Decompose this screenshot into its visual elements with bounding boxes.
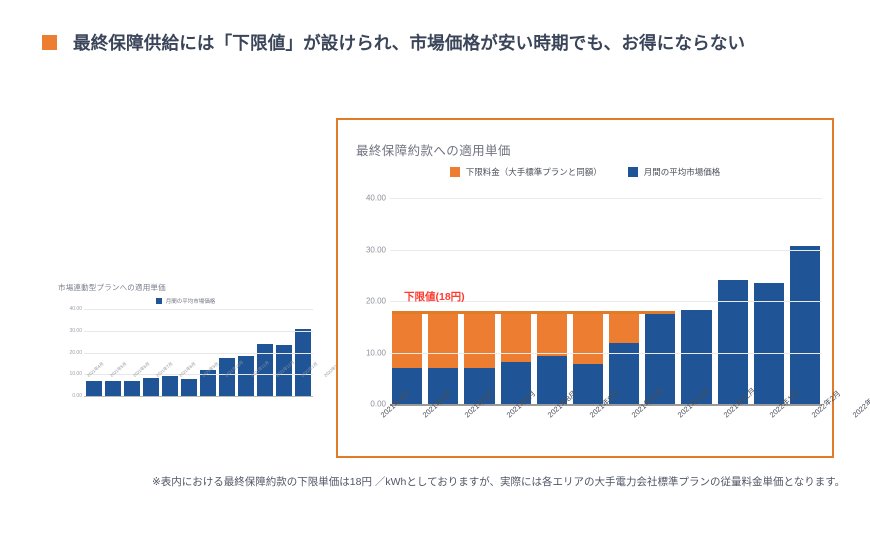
mini-y-gridline: [84, 353, 313, 354]
y-axis-tick-label: 10.00: [352, 348, 386, 357]
mini-bar-column[interactable]: [86, 381, 102, 396]
bar-segment-floor-rate: [392, 311, 422, 368]
legend-swatch-orange-icon: [450, 167, 460, 177]
footnote-text: ※表内における最終保障約款の下限単価は18円 ／kWhとしておりますが、実際には…: [152, 474, 845, 489]
legend-swatch-blue-icon: [628, 167, 638, 177]
bar-segment-floor-rate: [573, 311, 603, 364]
x-axis-tick-label: 2022年3月: [850, 388, 870, 420]
mini-y-axis-tick-label: 40.00: [58, 306, 82, 312]
headline-text: 最終保障供給には「下限値」が設けられ、市場価格が安い時期でも、お得にならない: [73, 30, 745, 55]
mini-bar-column[interactable]: [105, 381, 121, 396]
bar-column[interactable]: [537, 311, 567, 404]
main-chart-panel: 最終保障約款への適用単価 下限料金（大手標準プランと同額） 月間の平均市場価格 …: [336, 118, 834, 458]
y-gridline: [390, 250, 822, 251]
mini-y-axis-tick-label: 10.00: [58, 371, 82, 377]
headline-bullet-marker: [42, 35, 57, 50]
bar-segment-floor-rate: [501, 311, 531, 361]
mini-axis-baseline: [84, 396, 313, 397]
page-headline: 最終保障供給には「下限値」が設けられ、市場価格が安い時期でも、お得にならない: [42, 30, 745, 55]
mini-chart: 市場連動型プランへの適用単価 月間の平均市場価格 0.0010.0020.003…: [58, 282, 313, 422]
mini-y-axis-tick-label: 0.00: [58, 393, 82, 399]
bar-column[interactable]: [790, 246, 820, 404]
mini-y-axis-tick-label: 20.00: [58, 350, 82, 356]
floor-value-annotation: 下限値(18円): [404, 289, 465, 304]
bar-segment-floor-rate: [428, 311, 458, 368]
legend-item-market-price: 月間の平均市場価格: [628, 166, 721, 178]
bar-segment-market-price: [718, 280, 748, 404]
y-gridline: [390, 198, 822, 199]
y-axis-tick-label: 40.00: [352, 194, 386, 203]
bar-segment-market-price: [790, 246, 820, 404]
bar-segment-floor-rate: [464, 311, 494, 368]
main-chart-legend: 下限料金（大手標準プランと同額） 月間の平均市場価格: [338, 166, 832, 178]
legend-label-floor-rate: 下限料金（大手標準プランと同額）: [466, 166, 602, 178]
mini-plot-area: 0.0010.0020.0030.0040.00: [58, 309, 313, 397]
bar-segment-floor-rate: [537, 311, 567, 355]
bar-column[interactable]: [573, 311, 603, 404]
mini-bar-column[interactable]: [124, 381, 140, 396]
legend-swatch-blue-icon: [156, 298, 162, 304]
mini-y-axis-tick-label: 30.00: [58, 328, 82, 334]
mini-y-gridline: [84, 331, 313, 332]
y-gridline: [390, 353, 822, 354]
main-plot-area: 40.0030.0020.0010.000.00下限値(18円): [352, 198, 822, 406]
floor-value-cap-line: [392, 311, 675, 314]
mini-y-gridline: [84, 309, 313, 310]
bar-segment-market-price: [573, 364, 603, 404]
main-x-axis: 2021年4月2021年5月2021年6月2021年7月2021年8月2021年…: [378, 412, 830, 423]
bar-segment-floor-rate: [609, 311, 639, 343]
main-chart-title: 最終保障約款への適用単価: [356, 140, 511, 159]
mini-bar-column[interactable]: [143, 378, 159, 396]
mini-chart-title: 市場連動型プランへの適用単価: [58, 282, 313, 293]
legend-item-floor-rate: 下限料金（大手標準プランと同額）: [450, 166, 602, 178]
mini-chart-legend: 月間の平均市場価格: [58, 297, 313, 305]
bar-column[interactable]: [501, 311, 531, 404]
bar-column[interactable]: [718, 280, 748, 404]
mini-bar-column[interactable]: [295, 329, 311, 396]
y-axis-tick-label: 20.00: [352, 297, 386, 306]
mini-legend-label: 月間の平均市場価格: [166, 297, 216, 305]
y-axis-tick-label: 30.00: [352, 245, 386, 254]
mini-x-axis: 2021年4月2021年5月2021年6月2021年7月2021年8月2021年…: [86, 374, 311, 380]
legend-label-market-price: 月間の平均市場価格: [644, 166, 721, 178]
y-axis-tick-label: 0.00: [352, 400, 386, 409]
mini-bar-column[interactable]: [181, 379, 197, 396]
